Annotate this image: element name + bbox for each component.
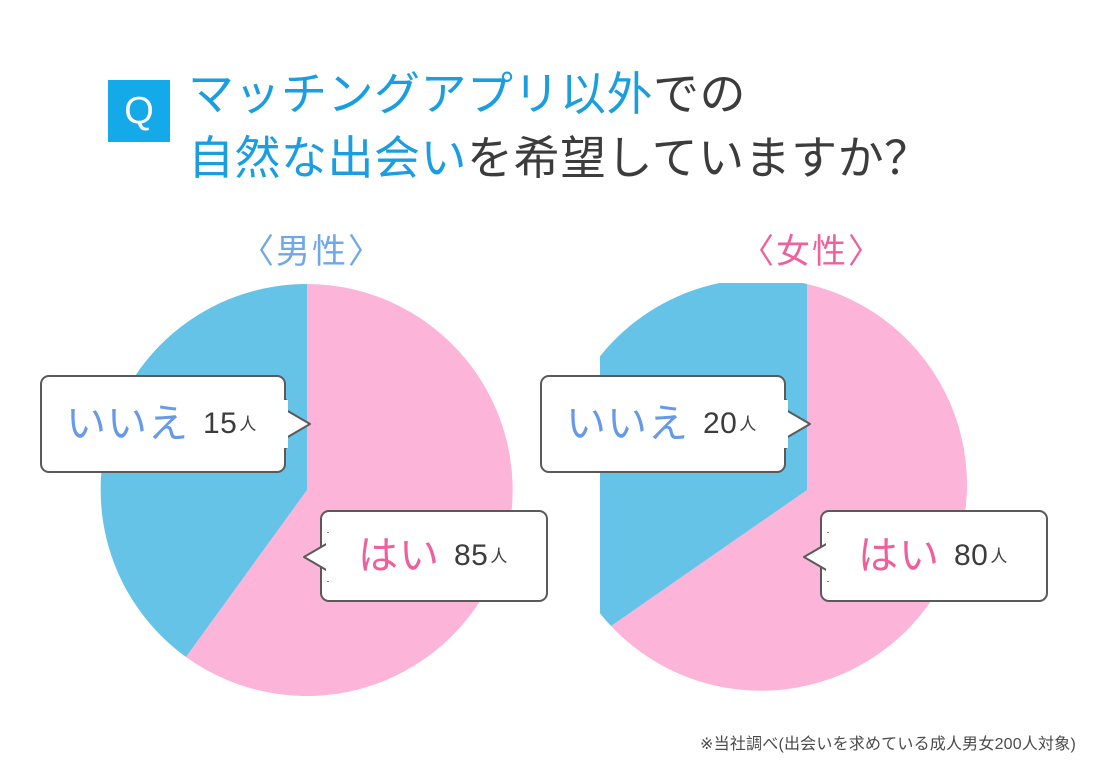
callout-yes-answer-female: はい	[858, 536, 940, 576]
charts-container: 〈男性〉 いいえ 15 人 はい 85 人	[0, 235, 1100, 715]
callout-yes-female: はい 80 人	[820, 510, 1048, 602]
callout-no-female: いいえ 20 人	[540, 375, 786, 473]
pie-chart-female: 〈女性〉 いいえ 20 人 はい 80 人	[562, 235, 1062, 715]
question-line-1-highlight: マッチングアプリ以外	[188, 68, 653, 120]
callout-no-male: いいえ 15 人	[40, 375, 286, 473]
callout-no-count-female: 20	[703, 409, 737, 439]
callout-no-unit-male: 人	[239, 416, 256, 433]
chart-title-male: 〈男性〉	[62, 235, 562, 269]
pie-graphic-male	[100, 283, 514, 697]
chart-title-female: 〈女性〉	[562, 235, 1062, 269]
question-line-1: マッチングアプリ以外での	[188, 62, 1058, 126]
callout-yes-pointer-female	[802, 533, 828, 581]
question-line-2: 自然な出会いを希望していますか？	[188, 126, 1058, 190]
pie-svg-female	[600, 283, 1014, 697]
survey-footnote: ※当社調べ(出会いを求めている成人男女200人対象)	[700, 730, 1076, 754]
question-badge: Q	[108, 80, 170, 142]
pie-svg-male	[100, 283, 514, 697]
callout-no-unit-female: 人	[739, 416, 756, 433]
callout-no-answer-male: いいえ	[66, 404, 189, 444]
pie-graphic-female	[600, 283, 1014, 697]
question-line-2-rest: を希望していますか？	[467, 132, 931, 184]
callout-no-count-male: 15	[203, 409, 237, 439]
callout-no-answer-female: いいえ	[566, 404, 689, 444]
pie-chart-male: 〈男性〉 いいえ 15 人 はい 85 人	[62, 235, 562, 715]
callout-yes-count-male: 85	[454, 541, 488, 571]
callout-yes-count-female: 80	[954, 541, 988, 571]
callout-yes-pointer-male	[302, 533, 328, 581]
callout-yes-answer-male: はい	[358, 536, 440, 576]
page-title: マッチングアプリ以外での 自然な出会いを希望していますか？	[188, 62, 1058, 191]
callout-no-pointer-male	[286, 400, 312, 448]
callout-yes-male: はい 85 人	[320, 510, 548, 602]
callout-yes-unit-female: 人	[990, 548, 1007, 565]
callout-no-pointer-female	[786, 400, 812, 448]
question-line-2-highlight: 自然な出会い	[188, 132, 467, 184]
callout-yes-unit-male: 人	[490, 548, 507, 565]
question-line-1-rest: での	[653, 68, 746, 120]
question-badge-letter: Q	[124, 92, 154, 130]
